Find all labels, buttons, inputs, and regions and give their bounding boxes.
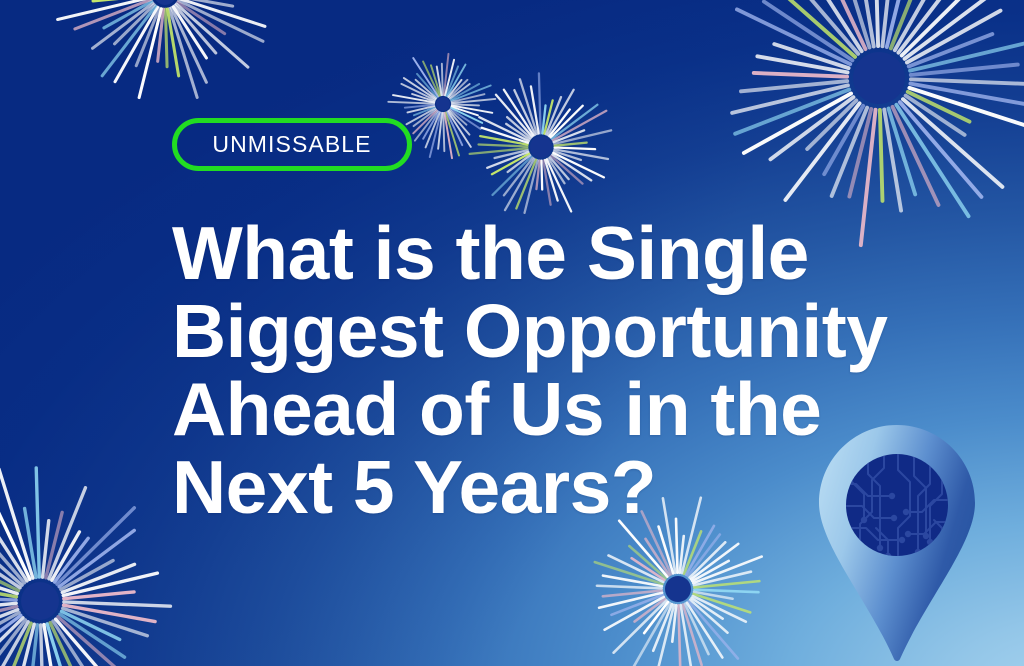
page-title-line-1: What is the Single: [172, 214, 932, 292]
status-badge-label: UNMISSABLE: [212, 133, 371, 156]
map-pin-circuit-icon: [818, 424, 976, 666]
page-title-line-2: Biggest Opportunity: [172, 292, 932, 370]
firework-burst-icon-top-left: [45, 0, 285, 114]
slide-canvas: UNMISSABLE What is the Single Biggest Op…: [0, 0, 1024, 666]
firework-burst-icon-bottom-left: [0, 461, 180, 666]
firework-burst-icon-upper-middle: [466, 72, 616, 222]
status-badge: UNMISSABLE: [172, 118, 412, 171]
